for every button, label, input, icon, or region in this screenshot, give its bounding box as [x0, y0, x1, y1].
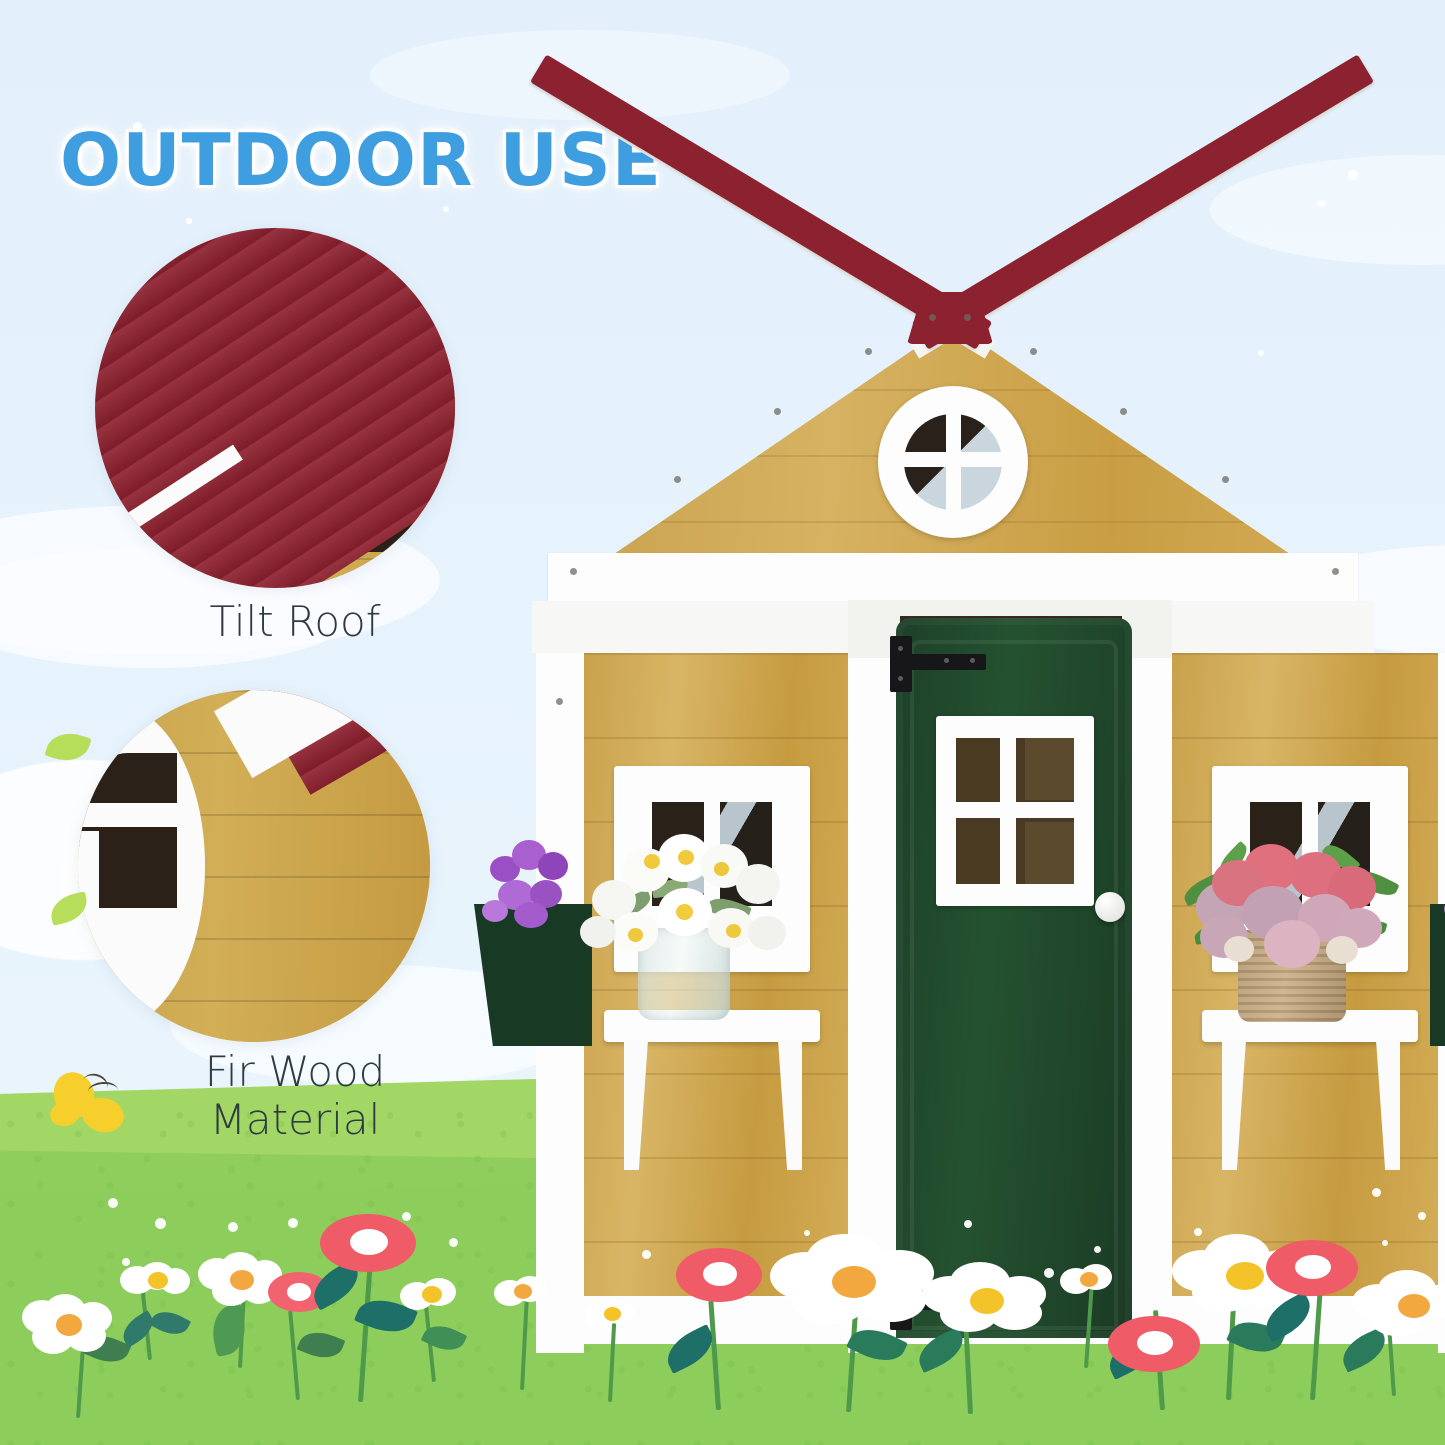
page-title: OUTDOOR USE: [60, 118, 662, 202]
door-window-frame: [936, 716, 1094, 906]
butterfly-icon: [48, 1068, 128, 1138]
feature-label-fir-wood: Fir Wood Material: [100, 1048, 490, 1144]
gable-round-window: [878, 386, 1028, 538]
feature-inset-fir-wood: [78, 690, 430, 1042]
fascia-upper: [548, 553, 1358, 601]
playhouse-product: [452, 268, 1445, 1343]
door-knob[interactable]: [1095, 892, 1125, 922]
marketing-image-canvas: OUTDOOR USE Tilt Roof Fir Wood Material: [0, 0, 1445, 1445]
right-planter-box: [1430, 904, 1445, 1046]
feature-label-tilt-roof: Tilt Roof: [110, 598, 480, 646]
feature-inset-tilt-roof: [95, 228, 455, 588]
